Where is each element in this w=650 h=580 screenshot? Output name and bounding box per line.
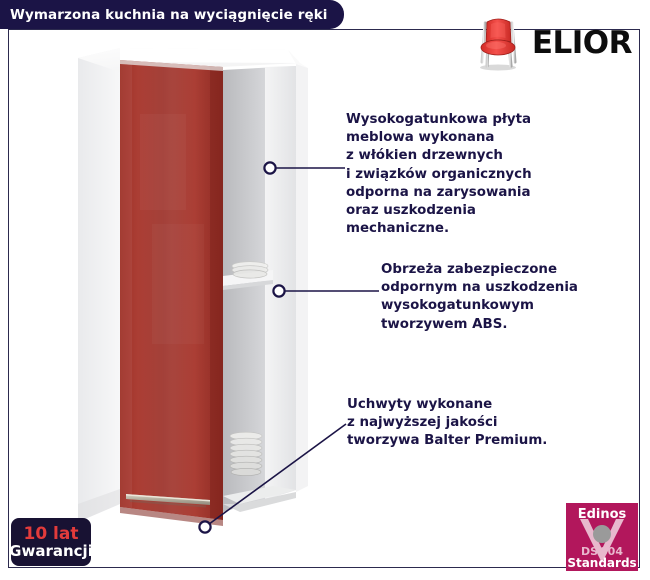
edinos-standards-text: Standards — [567, 556, 636, 570]
chair-icon — [471, 14, 525, 72]
product-image — [60, 34, 330, 544]
callout-text-edging: Obrzeża zabezpieczone odpornym na uszkod… — [381, 261, 631, 334]
warranty-word-label: Gwarancji — [9, 544, 93, 559]
edinos-brand-text: Edinos — [578, 507, 627, 522]
title-banner: Wymarzona kuchnia na wyciągnięcie ręki — [0, 0, 344, 29]
brand-name: ELIOR — [532, 28, 632, 59]
warranty-badge: 10 lat Gwarancji — [12, 519, 90, 565]
infographic-page: Wymarzona kuchnia na wyciągnięcie ręki — [0, 0, 650, 580]
callout-text-handles: Uchwyty wykonane z najwyższej jakości tw… — [347, 396, 597, 451]
brand-logo: ELIOR — [471, 14, 632, 72]
warranty-years-label: 10 lat — [23, 526, 78, 543]
callout-text-material: Wysokogatunkowa płyta meblowa wykonana z… — [346, 111, 606, 239]
edinos-badge: Edinos DSI 804 Standards — [566, 503, 638, 571]
page-title: Wymarzona kuchnia na wyciągnięcie ręki — [10, 7, 328, 23]
